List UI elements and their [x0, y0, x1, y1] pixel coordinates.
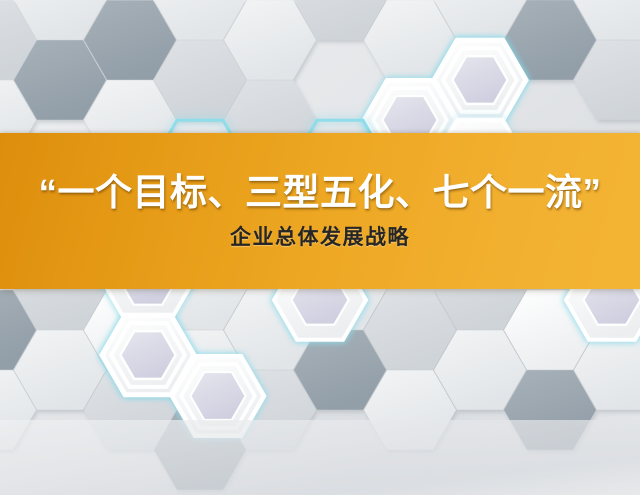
presentation-slide: “一个目标、三型五化、七个一流” 企业总体发展战略 [0, 0, 640, 495]
title-banner: “一个目标、三型五化、七个一流” 企业总体发展战略 [0, 133, 640, 289]
sub-title: 企业总体发展战略 [230, 227, 410, 248]
main-title: “一个目标、三型五化、七个一流” [39, 174, 602, 211]
